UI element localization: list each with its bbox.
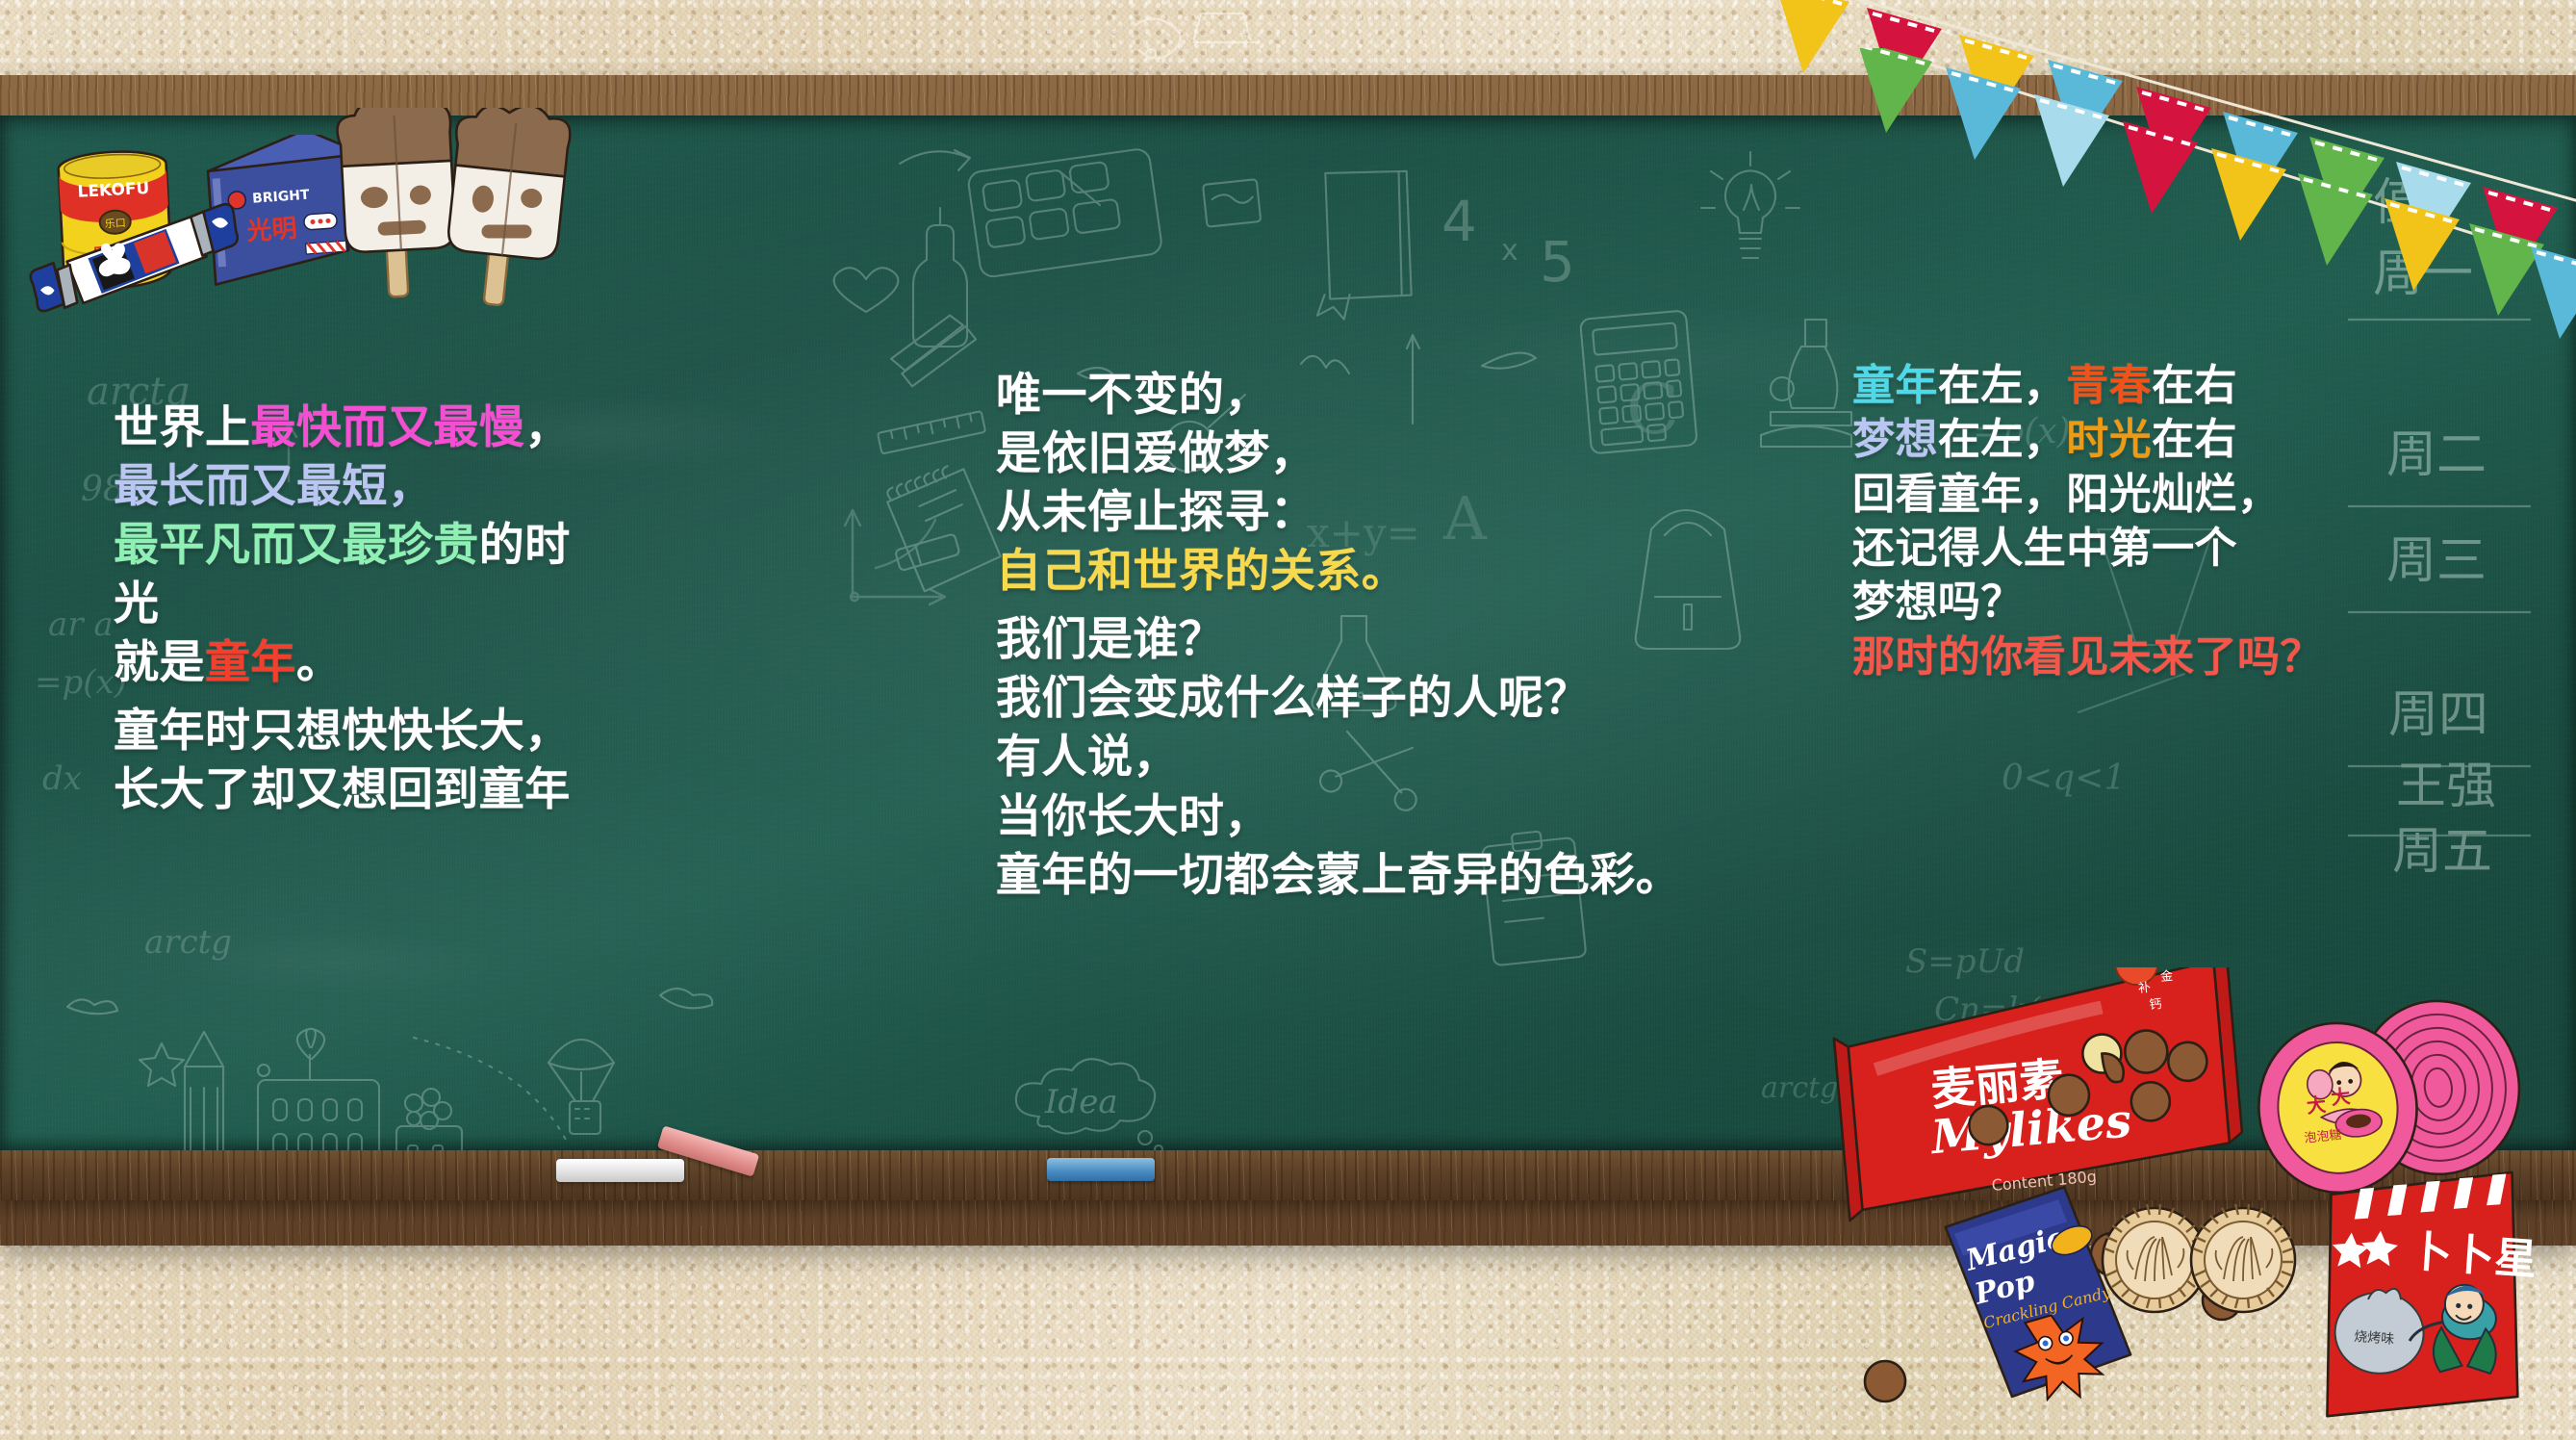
verse-segment: 梦想 <box>1852 415 1938 464</box>
verse-segment: 自己和世界的关系。 <box>996 545 1407 598</box>
verse-segment: 那时的你看见未来了吗？ <box>1852 632 2323 681</box>
verse-line: 自己和世界的关系。 <box>996 542 1681 601</box>
verse-segment: ， <box>388 460 433 513</box>
verse-line: 最平凡而又最珍贵的时 <box>114 516 571 575</box>
verse-segment: 时光 <box>2066 415 2152 464</box>
verse-segment: 在左， <box>1938 361 2066 410</box>
verse-segment: 在左， <box>1938 415 2066 464</box>
verse-segment: 从未停止探寻： <box>996 486 1315 539</box>
bubble-gum-tin-sticker: 大 大 泡泡糖 <box>2249 993 2528 1200</box>
verse-segment: 童年 <box>205 636 296 689</box>
ice-cream-bar-stickers <box>314 108 583 320</box>
svg-text:大: 大 <box>2306 1093 2327 1118</box>
verse-segment: 最快而又最慢 <box>250 401 524 454</box>
svg-text:LEKOFU: LEKOFU <box>77 179 150 202</box>
verse-line: 我们是谁？ <box>996 610 1681 669</box>
verse-line: 还记得人生中第一个 <box>1852 522 2323 576</box>
verse-line: 那时的你看见未来了吗？ <box>1852 630 2323 684</box>
verse-column-right: 童年在左，青春在右梦想在左，时光在右回看童年，阳光灿烂，还记得人生中第一个梦想吗… <box>1852 359 2323 684</box>
verse-segment: 是依旧爱做梦， <box>996 427 1315 480</box>
verse-segment: 当你长大时， <box>996 790 1270 843</box>
verse-segment: 我们会变成什么样子的人呢？ <box>996 672 1590 725</box>
mylikes-pack-sticker: 麦丽素 Mylikes 补 金 钙 Content 180g <box>1828 967 2247 1221</box>
verse-segment: 梦想吗？ <box>1852 578 2024 627</box>
bobo-star-snack-sticker: 卜卜星 烧烤味 <box>2315 1160 2542 1430</box>
verse-line: 回看童年，阳光灿烂， <box>1852 468 2323 522</box>
svg-text:大: 大 <box>2330 1085 2351 1110</box>
verse-line: 童年时只想快快长大， <box>114 702 571 760</box>
verse-segment: 的时 <box>479 519 571 572</box>
verse-line: 唯一不变的， <box>996 366 1681 424</box>
verse-segment: 童年的一切都会蒙上奇异的色彩。 <box>996 849 1681 902</box>
verse-segment: 我们是谁？ <box>996 613 1224 666</box>
svg-text:乐口: 乐口 <box>104 217 126 230</box>
svg-text:卜卜星: 卜卜星 <box>2409 1227 2538 1285</box>
verse-segment: 有人说， <box>996 731 1179 784</box>
magic-pop-candy-sticker: Magic Pop Crackling Candy <box>1942 1181 2135 1412</box>
verse-line: 梦想在左，时光在右 <box>1852 413 2323 467</box>
svg-text:钙: 钙 <box>2149 997 2162 1013</box>
verse-line: 最长而又最短， <box>114 457 571 516</box>
verse-line: 童年在左，青春在右 <box>1852 359 2323 413</box>
svg-text:金: 金 <box>2159 968 2173 985</box>
verse-segment: 最平凡而又最珍贵 <box>114 519 479 572</box>
verse-segment: 还记得人生中第一个 <box>1852 524 2237 573</box>
verse-line: 从未停止探寻： <box>996 483 1681 542</box>
svg-text:烧烤味: 烧烤味 <box>2354 1329 2395 1348</box>
verse-line: 梦想吗？ <box>1852 576 2323 630</box>
verse-line: 就是童年。 <box>114 633 571 692</box>
verse-line: 有人说， <box>996 728 1681 786</box>
chalk-stick-white[interactable] <box>556 1159 684 1182</box>
verse-segment: 光 <box>114 578 159 630</box>
verse-segment: 唯一不变的， <box>996 369 1270 422</box>
ice-cream-bar-right <box>439 108 573 311</box>
verse-segment: 童年时只想快快长大， <box>114 705 571 758</box>
svg-text:光明: 光明 <box>245 215 298 247</box>
verse-column-left: 世界上最快而又最慢，最长而又最短，最平凡而又最珍贵的时光就是童年。童年时只想快快… <box>114 399 571 820</box>
verse-segment: 最长而又最短 <box>114 460 388 513</box>
verse-column-middle: 唯一不变的，是依旧爱做梦，从未停止探寻：自己和世界的关系。我们是谁？我们会变成什… <box>996 366 1681 905</box>
verse-segment: 长大了却又想回到童年 <box>114 763 571 816</box>
biscuit-pair-sticker <box>2103 1204 2295 1312</box>
verse-segment: 在右 <box>2152 361 2237 410</box>
verse-segment: ， <box>524 401 570 454</box>
verse-segment: 回看童年，阳光灿烂， <box>1852 470 2280 519</box>
verse-segment: 童年 <box>1852 361 1938 410</box>
verse-line: 长大了却又想回到童年 <box>114 760 571 819</box>
verse-line: 当你长大时， <box>996 787 1681 846</box>
verse-line: 童年的一切都会蒙上奇异的色彩。 <box>996 846 1681 905</box>
svg-text:补: 补 <box>2137 981 2151 996</box>
chalk-stick-blue[interactable] <box>1047 1158 1155 1181</box>
verse-segment: 青春 <box>2066 361 2152 410</box>
verse-line: 我们会变成什么样子的人呢？ <box>996 669 1681 728</box>
verse-line-spacer <box>996 601 1681 610</box>
ice-cream-bar-left <box>336 108 460 299</box>
verse-segment: 。 <box>296 636 342 689</box>
verse-line: 光 <box>114 575 571 633</box>
verse-line: 是依旧爱做梦， <box>996 424 1681 483</box>
snack-stickers-bottom-right: 麦丽素 Mylikes 补 金 钙 Content 180g <box>1824 967 2576 1440</box>
verse-line-spacer <box>114 692 571 702</box>
verse-segment: 世界上 <box>114 401 250 454</box>
verse-segment: 就是 <box>114 636 205 689</box>
verse-segment: 在右 <box>2152 415 2237 464</box>
verse-line: 世界上最快而又最慢， <box>114 399 571 457</box>
